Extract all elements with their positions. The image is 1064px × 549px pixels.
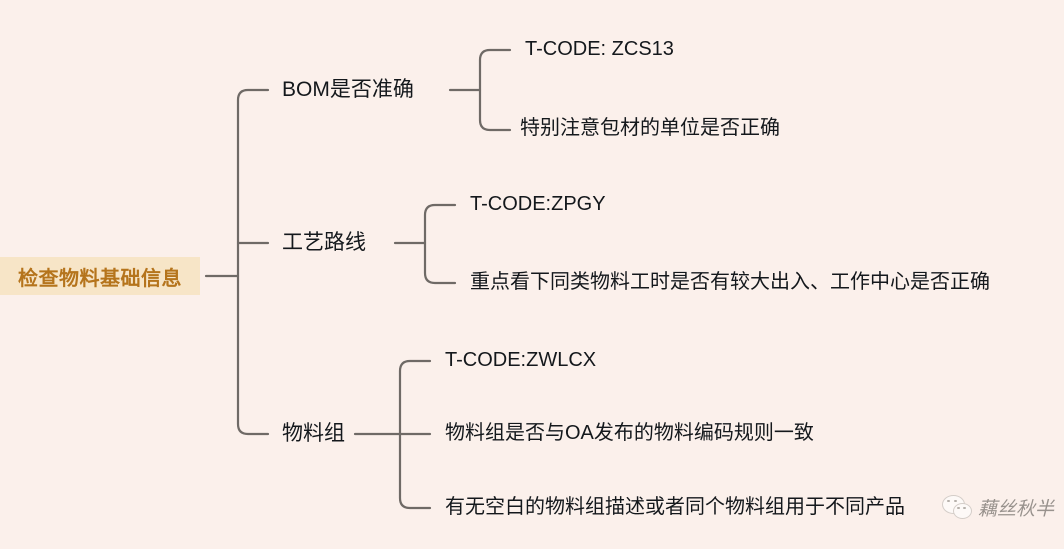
leaf-node-bom-packaging-unit[interactable]: 特别注意包材的单位是否正确	[520, 118, 780, 138]
leaf-node-process-worktime-check[interactable]: 重点看下同类物料工时是否有较大出入、工作中心是否正确	[470, 272, 990, 292]
watermark: 藕丝秋半	[942, 494, 1054, 521]
watermark-label: 藕丝秋半	[978, 494, 1054, 521]
leaf-node-process-tcode[interactable]: T-CODE:ZPGY	[470, 194, 606, 214]
leaf-node-material-oa-rule[interactable]: 物料组是否与OA发布的物料编码规则一致	[445, 423, 814, 443]
wechat-icon	[942, 495, 972, 521]
root-node-label: 检查物料基础信息	[18, 262, 182, 291]
branch-node-process-route[interactable]: 工艺路线	[282, 232, 366, 253]
branch-node-bom[interactable]: BOM是否准确	[282, 79, 414, 100]
leaf-node-bom-tcode[interactable]: T-CODE: ZCS13	[525, 39, 674, 59]
mindmap-canvas: 检查物料基础信息 BOM是否准确 T-CODE: ZCS13 特别注意包材的单位…	[0, 0, 1064, 549]
branch-node-material-group[interactable]: 物料组	[282, 423, 345, 444]
leaf-node-material-tcode[interactable]: T-CODE:ZWLCX	[445, 350, 596, 370]
leaf-node-material-blank-desc[interactable]: 有无空白的物料组描述或者同个物料组用于不同产品	[445, 497, 905, 517]
root-node[interactable]: 检查物料基础信息	[0, 257, 200, 295]
